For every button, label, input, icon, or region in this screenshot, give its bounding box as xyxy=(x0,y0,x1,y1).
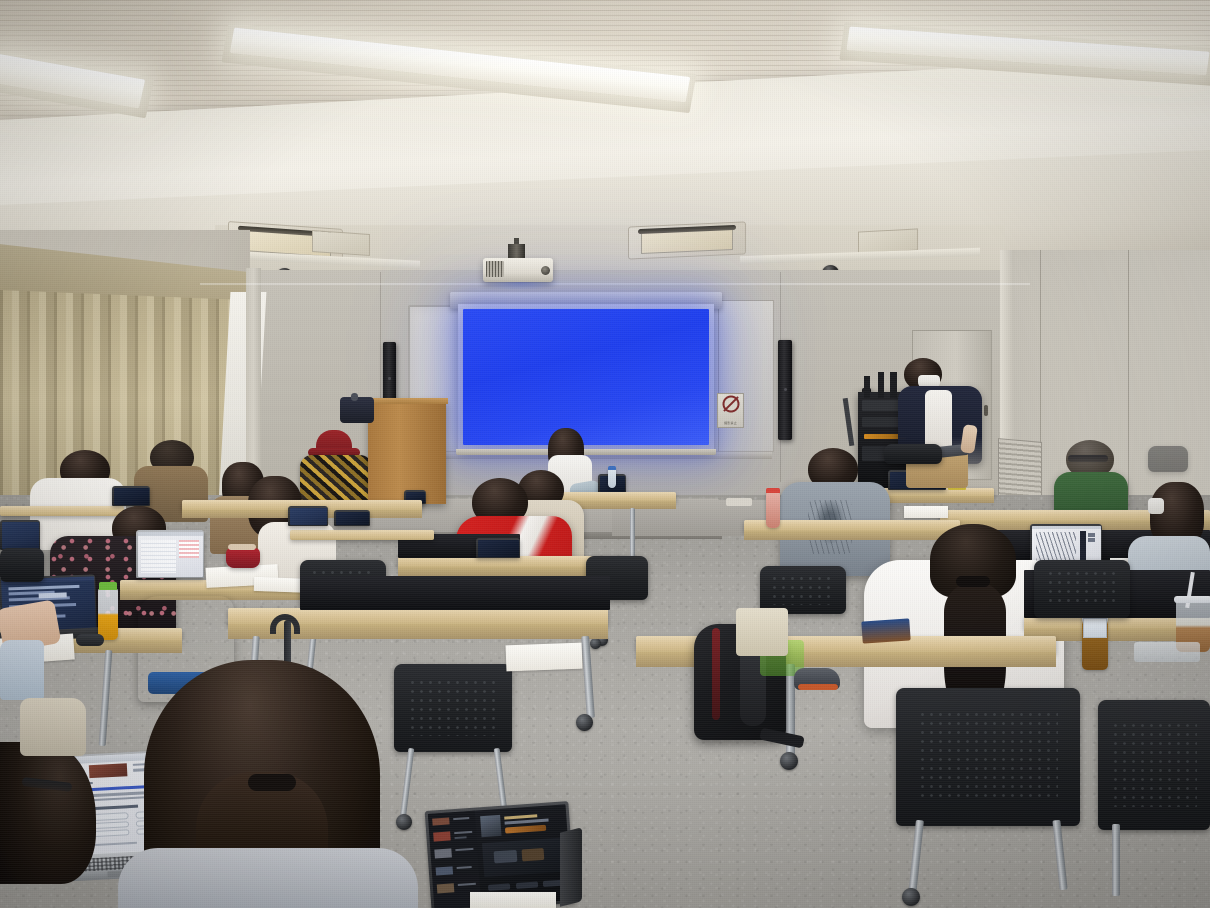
ceiling-vent-right xyxy=(628,221,746,259)
backpack-red-stripe xyxy=(712,628,720,720)
laptop-far-left[interactable] xyxy=(0,520,40,550)
papers-center-foreground xyxy=(506,643,583,672)
tote-bag xyxy=(736,608,788,656)
chair-center-far-caster xyxy=(590,638,601,649)
ceiling-access-panel-left xyxy=(312,230,370,256)
laptop-left-back-1[interactable] xyxy=(112,486,150,506)
desk-center-foreground-modesty xyxy=(300,576,610,610)
plastic-bag xyxy=(1134,642,1200,662)
red-pouch xyxy=(226,548,260,568)
chair-right-2[interactable] xyxy=(1098,700,1210,830)
bottle-right-mid-cap xyxy=(766,488,780,493)
desk-left-mid0 xyxy=(290,530,434,540)
water-bottle-front xyxy=(608,468,616,488)
laptop-left-back-3[interactable] xyxy=(334,510,370,526)
laptop-spreadsheet[interactable] xyxy=(136,530,204,578)
lectern-mic xyxy=(351,393,358,401)
tablet-case-stand xyxy=(560,827,582,906)
projection-screen[interactable] xyxy=(458,304,714,451)
laptop-left-back-2[interactable] xyxy=(288,506,328,526)
chair-far-left[interactable] xyxy=(0,548,44,582)
sneaker-sole xyxy=(798,684,838,690)
projector-mount xyxy=(508,244,525,259)
hair-tie xyxy=(956,576,990,587)
water-bottle-cap xyxy=(608,466,616,470)
patterned-jacket xyxy=(300,455,372,503)
projector-vent xyxy=(486,261,504,277)
computer-mouse[interactable] xyxy=(76,634,104,646)
magazine-on-desk xyxy=(861,618,910,643)
foreground-student-hair-tie xyxy=(248,774,296,791)
lectern xyxy=(368,400,446,504)
bottle-right-mid xyxy=(766,492,780,528)
no-photography-sign: 撮影禁止 xyxy=(717,393,744,428)
juice-bottle-cap xyxy=(99,582,117,590)
wall-speaker-right xyxy=(778,340,792,440)
chair-right-1[interactable] xyxy=(896,688,1080,826)
av-rack-antenna-3 xyxy=(890,372,897,398)
chair-right-back[interactable] xyxy=(1034,560,1130,618)
chair-center-1[interactable] xyxy=(394,664,512,752)
chair-center-1-caster xyxy=(396,814,412,830)
tea-bottle-label xyxy=(1083,618,1107,638)
beige-bag xyxy=(20,698,86,756)
chair-mid-right[interactable] xyxy=(760,566,846,614)
glasses-icon xyxy=(1068,455,1108,462)
projection-screen-weight-bar xyxy=(456,449,716,455)
desk-right-row-caster xyxy=(780,752,798,770)
lectern-chair xyxy=(340,397,374,423)
papers-right-mid xyxy=(904,506,948,518)
wall-top-trim xyxy=(200,283,1030,285)
laptop-row2[interactable] xyxy=(476,538,520,558)
projector-lens xyxy=(541,266,550,275)
chair-far-right-2[interactable] xyxy=(1148,446,1188,472)
instructor-inner-top xyxy=(925,390,952,452)
projection-screen-surface xyxy=(463,309,709,445)
desk-left-back xyxy=(0,506,124,516)
av-rack-antenna-1 xyxy=(864,376,870,398)
cup-lid xyxy=(1174,596,1210,603)
av-rack-antenna-2 xyxy=(878,372,884,398)
red-pouch-flap xyxy=(228,544,256,550)
chair-right-1-caster xyxy=(902,888,920,906)
no-photography-sign-label: 撮影禁止 xyxy=(718,421,743,425)
whiteboard-right-panel xyxy=(718,300,774,452)
chair-right-2-leg xyxy=(1112,824,1120,896)
classroom-photo: 撮影禁止 xyxy=(0,0,1210,908)
door-knob[interactable] xyxy=(984,405,988,416)
desk-right-mid-edge xyxy=(744,531,960,540)
papers-under-tablet xyxy=(470,892,556,908)
sleeve-foreground-left xyxy=(0,640,44,700)
chair-far-right[interactable] xyxy=(884,444,942,464)
foreground-student-shoulders xyxy=(118,848,418,908)
papers-stage-edge xyxy=(726,498,752,506)
lectern-top xyxy=(366,398,448,404)
desk-center-fg-caster xyxy=(576,714,593,731)
gray-shirt-student-mask xyxy=(1148,498,1164,514)
juice-bottle xyxy=(98,588,118,640)
